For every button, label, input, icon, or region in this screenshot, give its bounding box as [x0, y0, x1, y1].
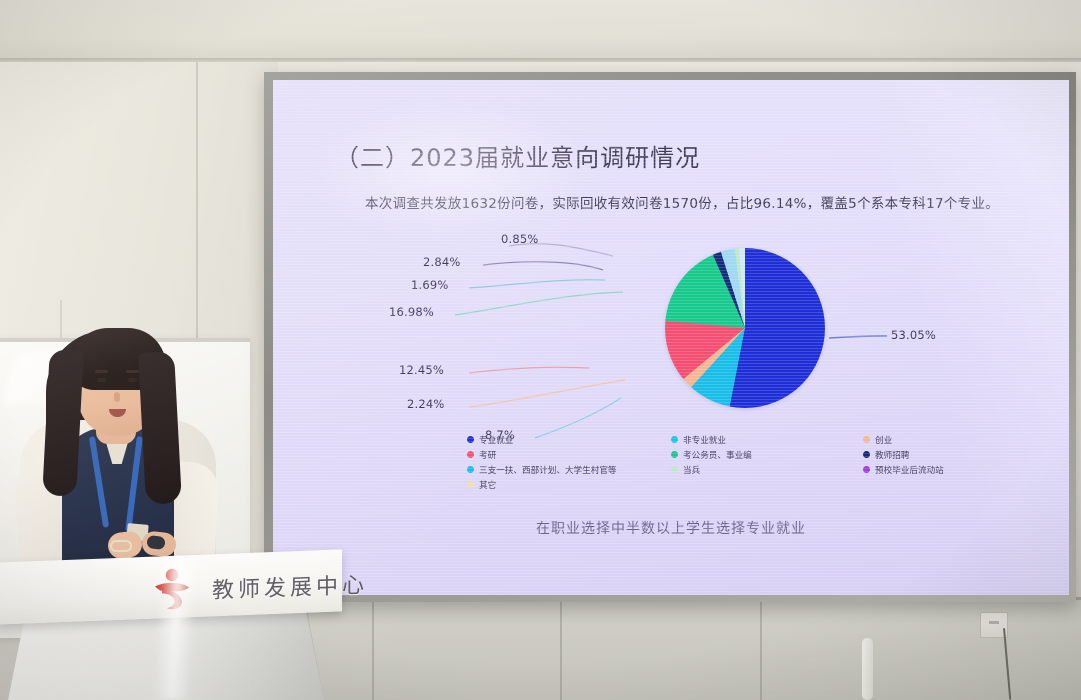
legend-item[interactable]: 当兵 — [671, 462, 752, 477]
pie-label-0-85: 0.85% — [501, 232, 539, 246]
legend-item[interactable]: 创业 — [863, 432, 944, 447]
wall-upper — [0, 0, 1081, 62]
legend-swatch-icon — [863, 451, 870, 458]
wall-conduit — [862, 638, 873, 700]
legend-item[interactable]: 考研 — [467, 447, 617, 462]
legend-label: 考研 — [479, 449, 496, 461]
legend-column-1: 专业就业 考研 三支一扶、西部计划、大学生村官等 其它 — [467, 432, 617, 492]
legend-label: 非专业就业 — [683, 434, 726, 446]
conference-room-photo: （二）2023届就业意向调研情况 本次调查共发放1632份问卷，实际回收有效问卷… — [0, 0, 1081, 700]
legend-column-3: 创业 教师招聘 预校毕业后流动站 — [863, 432, 944, 477]
podium-label: 教师发展中心 — [212, 567, 368, 604]
pie-slices — [665, 248, 825, 408]
legend-swatch-icon — [467, 451, 474, 458]
legend-label: 考公务员、事业编 — [683, 449, 752, 461]
speaker-bracelet — [110, 540, 132, 552]
legend-item[interactable]: 专业就业 — [467, 432, 617, 447]
podium-shading — [176, 606, 324, 700]
legend-swatch-icon — [671, 466, 678, 473]
slide-subtitle: 本次调查共发放1632份问卷，实际回收有效问卷1570份，占比96.14%，覆盖… — [365, 192, 999, 212]
pie-label-53-05: 53.05% — [891, 328, 936, 342]
pie-label-2-84: 2.84% — [423, 255, 461, 269]
legend-label: 其它 — [479, 479, 496, 491]
speaker-nose — [114, 392, 120, 402]
wall-panel-line — [372, 600, 374, 700]
pie-label-2-24: 2.24% — [407, 397, 445, 411]
legend-swatch-icon — [671, 436, 678, 443]
speaker-eyebrow-left — [95, 370, 108, 373]
podium-light-glare — [152, 560, 197, 700]
legend-swatch-icon — [467, 436, 474, 443]
pie-label-12-45: 12.45% — [399, 363, 444, 377]
legend-item[interactable]: 考公务员、事业编 — [671, 447, 752, 462]
pie-label-16-98: 16.98% — [389, 305, 434, 319]
legend-item[interactable]: 预校毕业后流动站 — [863, 462, 944, 477]
legend-label: 当兵 — [683, 464, 700, 476]
legend-label: 三支一扶、西部计划、大学生村官等 — [479, 464, 617, 476]
wall-panel-line — [560, 600, 562, 700]
pie-label-1-69: 1.69% — [411, 278, 449, 292]
legend-item[interactable]: 非专业就业 — [671, 432, 752, 447]
legend-swatch-icon — [467, 466, 474, 473]
wall-below-screen — [255, 598, 1081, 700]
slide-footer-note: 在职业选择中半数以上学生选择专业就业 — [273, 518, 1069, 538]
legend-swatch-icon — [467, 481, 474, 488]
slide-title: （二）2023届就业意向调研情况 — [335, 138, 700, 173]
slide: （二）2023届就业意向调研情况 本次调查共发放1632份问卷，实际回收有效问卷… — [273, 80, 1069, 595]
pie-chart — [665, 248, 825, 408]
legend-label: 预校毕业后流动站 — [875, 464, 944, 476]
legend-item[interactable]: 其它 — [467, 477, 617, 492]
presentation-display[interactable]: （二）2023届就业意向调研情况 本次调查共发放1632份问卷，实际回收有效问卷… — [273, 80, 1069, 595]
speaker-eye-right — [128, 378, 137, 382]
legend-item[interactable]: 教师招聘 — [863, 447, 944, 462]
speaker-eyebrow-right — [126, 370, 139, 373]
legend-swatch-icon — [671, 451, 678, 458]
legend-label: 专业就业 — [479, 434, 513, 446]
legend-item[interactable]: 三支一扶、西部计划、大学生村官等 — [467, 462, 617, 477]
legend-label: 教师招聘 — [875, 449, 909, 461]
legend-column-2: 非专业就业 考公务员、事业编 当兵 — [671, 432, 752, 477]
wall-panel-line — [760, 600, 762, 700]
legend-swatch-icon — [863, 436, 870, 443]
speaker-eye-left — [97, 378, 106, 382]
legend-swatch-icon — [863, 466, 870, 473]
legend-label: 创业 — [875, 434, 892, 446]
